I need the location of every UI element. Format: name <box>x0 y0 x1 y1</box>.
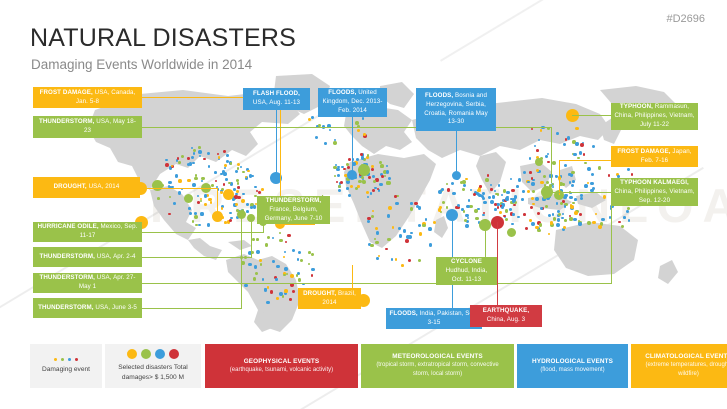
event-dot <box>191 156 194 159</box>
connector-frost-japan <box>559 160 560 195</box>
event-dot <box>497 206 499 208</box>
event-dot <box>311 268 314 271</box>
callout-thunderstorm-usa-june[interactable]: THUNDERSTORM, USA, June 3-5 <box>33 298 142 318</box>
event-dot <box>208 198 211 201</box>
selected-disaster-bubble <box>184 194 193 203</box>
event-dot <box>598 225 602 229</box>
event-dot <box>357 185 360 188</box>
event-dot <box>552 213 554 215</box>
event-dot <box>631 173 633 175</box>
event-dot <box>479 185 481 187</box>
callout-hurricane-odile[interactable]: HURRICANE ODILE, Mexico, Sep. 11-17 <box>33 222 142 242</box>
callout-flash-flood-usa[interactable]: FLASH FLOOD, USA, Aug. 11-13 <box>243 88 310 110</box>
event-dot <box>573 153 576 156</box>
event-dot <box>579 151 583 155</box>
callout-category: CYCLONE <box>451 258 482 265</box>
dot-blue-icon <box>68 358 71 361</box>
event-dot <box>465 224 469 228</box>
event-dot <box>535 197 539 201</box>
event-dot <box>387 214 390 217</box>
event-dot <box>466 205 470 209</box>
event-dot <box>279 232 281 234</box>
event-dot <box>587 167 591 171</box>
connector-thunderstorm-june <box>142 308 242 309</box>
event-dot <box>207 223 211 227</box>
callout-category: HURRICANE ODILE, <box>38 223 99 230</box>
event-dot <box>370 192 372 194</box>
event-dot <box>201 177 204 180</box>
event-dot <box>552 186 554 188</box>
event-dot <box>584 184 588 188</box>
event-dot <box>276 265 279 268</box>
event-dot <box>527 181 530 184</box>
event-dot <box>601 218 604 221</box>
callout-detail: USA, June 3-5 <box>95 304 137 311</box>
event-dot <box>451 182 454 185</box>
event-dot <box>168 181 172 185</box>
callout-floods-balkans[interactable]: FLOODS, Bosnia and Herzegovina, Serbia, … <box>416 88 496 131</box>
event-dot <box>262 278 264 280</box>
event-dot <box>627 168 630 171</box>
event-dot <box>401 264 404 267</box>
legend-category-subtitle: (flood, mass movement) <box>534 366 610 375</box>
event-dot <box>290 274 294 278</box>
event-dot <box>403 229 407 233</box>
callout-category: FLASH FLOOD, <box>253 90 300 97</box>
dot-red-icon <box>75 358 78 361</box>
dot-green-icon <box>61 358 64 361</box>
callout-thunderstorm-usa-apr-2-4[interactable]: THUNDERSTORM, USA, Apr. 2-4 <box>33 247 142 267</box>
legend-category-title: METEOROLOGICAL EVENTS <box>392 353 482 360</box>
event-dot <box>177 157 179 159</box>
event-dot <box>552 183 554 185</box>
dot-green-icon <box>141 349 151 359</box>
event-dot <box>259 259 262 262</box>
event-dot <box>380 165 384 169</box>
event-dot <box>198 146 201 149</box>
event-dot <box>405 239 409 243</box>
event-dot <box>460 181 463 184</box>
legend-category-title: GEOPHYSICAL EVENTS <box>244 358 320 365</box>
connector-typhoon-kalmaegi <box>547 192 611 193</box>
event-dot <box>579 213 582 216</box>
legend-category-meteorological[interactable]: METEOROLOGICAL EVENTS (tropical storm, e… <box>361 344 514 388</box>
event-dot <box>560 202 563 205</box>
event-dot <box>207 152 210 155</box>
event-dot <box>578 222 581 225</box>
event-dot <box>474 209 478 213</box>
callout-category: THUNDERSTORM, <box>39 274 95 281</box>
connector-cyclone-hudhud <box>485 225 486 258</box>
callout-thunderstorm-usa-apr-27[interactable]: THUNDERSTORM, USA, Apr. 27-May 1 <box>33 273 142 293</box>
event-dot <box>564 164 567 167</box>
event-dot <box>391 258 393 260</box>
legend-category-subtitle: (extreme temperatures, drought, wildfire… <box>631 361 727 378</box>
dot-orange-icon <box>54 358 57 361</box>
legend-category-subtitle: (tropical storm, extratropical storm, co… <box>361 361 514 378</box>
dot-orange-icon <box>127 349 137 359</box>
event-dot <box>284 267 288 271</box>
event-dot <box>512 199 515 202</box>
event-dot <box>540 207 543 210</box>
legend-damaging-event: Damaging event <box>30 344 102 388</box>
event-dot <box>256 250 260 254</box>
event-dot <box>558 213 561 216</box>
event-dot <box>556 202 558 204</box>
event-dot <box>241 199 245 203</box>
callout-detail: Hudhud, India, Oct. 11-13 <box>446 267 488 283</box>
event-dot <box>232 198 235 201</box>
event-dot <box>410 202 412 204</box>
legend-selected-disasters-label: Selected disasters Total damages> $ 1,50… <box>105 363 201 382</box>
event-dot <box>540 181 543 184</box>
event-dot <box>518 178 521 181</box>
connector-hurricane-odile <box>142 232 264 233</box>
callout-category: DROUGHT, <box>303 290 336 297</box>
event-dot <box>362 180 364 182</box>
event-dot <box>428 227 432 231</box>
event-dot <box>370 244 374 248</box>
event-dot <box>536 169 539 172</box>
event-dot <box>193 149 196 152</box>
legend-category-climatological[interactable]: CLIMATOLOGICAL EVENTS (extreme temperatu… <box>631 344 727 388</box>
event-dot <box>418 206 421 209</box>
event-dot <box>237 167 240 170</box>
event-dot <box>529 171 532 174</box>
event-dot <box>598 166 602 170</box>
callout-detail: France, Belgium, Germany, June 7-10 <box>265 206 323 222</box>
legend-category-subtitle: (earthquake, tsunami, volcanic activity) <box>222 366 341 375</box>
event-dot <box>379 183 382 186</box>
callout-typhoon-kalmaegi[interactable]: TYPHOON KALMAEGI, China, Philippines, Vi… <box>611 178 698 206</box>
event-dot <box>538 230 540 232</box>
callout-frost-damage-usa-canada[interactable]: FROST DAMAGE, USA, Canada, Jan. 5-8 <box>33 87 142 108</box>
event-dot <box>192 183 196 187</box>
event-dot <box>623 216 626 219</box>
event-dot <box>569 217 572 220</box>
callout-category: FROST DAMAGE, <box>617 148 670 155</box>
callout-frost-damage-japan[interactable]: FROST DAMAGE, Japan, Feb. 7-16 <box>611 146 698 167</box>
event-dot <box>398 227 401 230</box>
callout-category: DROUGHT, <box>54 183 87 190</box>
event-dot <box>573 218 577 222</box>
dot-blue-icon <box>155 349 165 359</box>
event-dot <box>501 203 503 205</box>
event-dot <box>553 217 556 220</box>
callout-detail: USA, Apr. 2-4 <box>97 253 136 260</box>
event-dot <box>374 187 377 190</box>
event-dot <box>433 221 436 224</box>
event-dot <box>284 289 288 293</box>
event-dot <box>505 209 508 212</box>
callout-detail: China, Aug. 3 <box>487 316 525 323</box>
event-dot <box>475 217 479 221</box>
event-dot <box>338 189 341 192</box>
event-dot <box>626 210 629 213</box>
event-dot <box>367 220 370 223</box>
dot-red-icon <box>169 349 179 359</box>
event-dot <box>517 216 520 219</box>
event-dot <box>513 204 516 207</box>
event-dot <box>234 195 237 198</box>
event-dot <box>490 188 492 190</box>
callout-category: THUNDERSTORM, <box>39 253 95 260</box>
event-dot <box>569 181 572 184</box>
connector-drought-usa <box>217 188 218 216</box>
event-dot <box>564 219 567 222</box>
event-dot <box>289 298 292 301</box>
legend-category-title: CLIMATOLOGICAL EVENTS <box>645 353 727 360</box>
callout-typhoon-rammasun[interactable]: TYPHOON, Rammasun, China, Philippines, V… <box>611 103 698 130</box>
event-dot <box>198 150 202 154</box>
event-dot <box>483 201 486 204</box>
connector-flash-flood <box>276 110 277 178</box>
event-dot <box>490 200 494 204</box>
event-dot <box>224 221 227 224</box>
connector-drought-usa <box>140 188 218 189</box>
event-dot <box>531 182 534 185</box>
event-dot <box>253 205 256 208</box>
event-dot <box>298 278 302 282</box>
event-dot <box>556 132 559 135</box>
event-dot <box>215 180 217 182</box>
connector-thunderstorm-apr27 <box>142 283 612 284</box>
event-dot <box>422 224 425 227</box>
connector-thunderstorm-june <box>241 214 242 309</box>
event-dot <box>564 205 566 207</box>
selected-disaster-bubble <box>507 228 516 237</box>
callout-category: TYPHOON, <box>620 103 653 110</box>
event-dot <box>181 155 184 158</box>
event-dot <box>575 127 578 130</box>
callout-drought-usa[interactable]: DROUGHT, USA, 2014 <box>33 177 140 198</box>
event-dot <box>618 221 621 224</box>
event-dot <box>399 234 402 237</box>
slide-canvas: PRESENTATIONLOAD NATURAL DISASTERS Damag… <box>0 0 727 409</box>
event-dot <box>192 162 195 165</box>
callout-category: FROST DAMAGE, <box>40 89 93 96</box>
legend-category-geophysical[interactable]: GEOPHYSICAL EVENTS (earthquake, tsunami,… <box>205 344 358 388</box>
connector-earthquake-china <box>497 222 498 312</box>
event-dot <box>563 143 566 146</box>
event-dot <box>246 203 249 206</box>
event-dot <box>300 259 303 262</box>
callout-thunderstorm-usa-may[interactable]: THUNDERSTORM, USA, May 18-23 <box>33 116 142 138</box>
event-dot <box>188 207 190 209</box>
event-dot <box>575 142 578 145</box>
legend: Damaging event Selected disasters Total … <box>30 344 698 388</box>
selected-disaster-bubble <box>223 189 234 200</box>
event-dot <box>194 177 198 181</box>
event-dot <box>478 194 482 198</box>
event-dot <box>362 117 364 119</box>
event-dot <box>485 178 489 182</box>
event-dot <box>194 215 198 219</box>
callout-detail: China, Philippines, Vietnam, Sep. 12-20 <box>614 188 694 204</box>
legend-category-hydrological[interactable]: HYDROLOGICAL EVENTS (flood, mass movemen… <box>517 344 628 388</box>
connector-thunderstorm-apr27 <box>611 206 612 284</box>
event-dot <box>178 179 182 183</box>
callout-drought-brazil[interactable]: DROUGHT, Brazil, 2014 <box>298 288 361 309</box>
callout-category: EARTHQUAKE, <box>483 307 529 314</box>
event-dot <box>587 221 591 225</box>
event-dot <box>498 184 500 186</box>
event-dot <box>381 175 384 178</box>
connector-frost-usa <box>280 224 315 225</box>
page-title: NATURAL DISASTERS <box>30 24 296 53</box>
event-dot <box>505 218 508 221</box>
event-dot <box>492 195 495 198</box>
event-dot <box>265 243 268 246</box>
event-dot <box>414 202 417 205</box>
event-dot <box>587 182 589 184</box>
event-dot <box>366 191 369 194</box>
event-dot <box>388 206 392 210</box>
event-dot <box>375 241 378 244</box>
connector-typhoon-rammasun <box>572 115 611 116</box>
connector-thunderstorm-apr2 <box>251 218 252 258</box>
event-dot <box>279 239 282 242</box>
event-dot <box>296 274 298 276</box>
event-dot <box>531 222 535 226</box>
event-dot <box>419 232 422 235</box>
event-dot <box>394 195 397 198</box>
legend-big-dots <box>127 349 179 359</box>
event-dot <box>311 274 314 277</box>
callout-category: THUNDERSTORM, <box>39 118 95 125</box>
callout-floods-uk[interactable]: FLOODS, United Kingdom, Dec. 2013-Feb. 2… <box>318 88 387 117</box>
event-dot <box>169 196 171 198</box>
event-dot <box>211 184 214 187</box>
event-dot <box>577 157 580 160</box>
event-dot <box>371 215 375 219</box>
event-dot <box>275 278 277 280</box>
event-dot <box>260 263 263 266</box>
callout-detail: USA, Aug. 11-13 <box>253 99 300 106</box>
event-dot <box>385 248 387 250</box>
event-dot <box>438 208 442 212</box>
connector-thunderstorm-apr2 <box>142 257 252 258</box>
event-dot <box>463 184 466 187</box>
event-dot <box>187 179 190 182</box>
event-dot <box>527 190 530 193</box>
event-dot <box>223 150 226 153</box>
event-dot <box>463 210 466 213</box>
event-dot <box>505 197 509 201</box>
callout-category: THUNDERSTORM, <box>38 304 94 311</box>
event-dot <box>512 213 515 216</box>
event-dot <box>261 188 264 191</box>
selected-disaster-bubble <box>535 158 543 166</box>
event-dot <box>246 210 249 213</box>
event-dot <box>482 214 485 217</box>
event-dot <box>208 165 210 167</box>
event-dot <box>571 171 575 175</box>
connector-thunderstorm-may <box>551 127 552 183</box>
event-dot <box>580 194 582 196</box>
event-dot <box>204 203 207 206</box>
event-dot <box>324 142 327 145</box>
selected-disaster-bubble <box>358 164 370 176</box>
event-dot <box>521 198 524 201</box>
event-dot <box>546 181 549 184</box>
event-dot <box>237 163 240 166</box>
event-dot <box>376 231 379 234</box>
event-dot <box>336 168 339 171</box>
callout-cyclone-hudhud[interactable]: CYCLONE Hudhud, India, Oct. 11-13 <box>436 257 497 285</box>
callout-category: FLOODS, <box>328 89 356 96</box>
event-dot <box>516 185 519 188</box>
legend-small-dots <box>54 358 78 361</box>
event-dot <box>311 253 314 256</box>
event-dot <box>347 166 350 169</box>
legend-category-title: HYDROLOGICAL EVENTS <box>532 358 613 365</box>
event-dot <box>194 212 197 215</box>
event-dot <box>346 187 349 190</box>
event-dot <box>311 116 314 119</box>
event-dot <box>536 149 539 152</box>
connector-floods-uk <box>352 117 353 175</box>
event-dot <box>572 180 575 183</box>
event-dot <box>178 161 181 164</box>
event-dot <box>272 260 275 263</box>
event-dot <box>603 195 606 198</box>
event-dot <box>200 212 203 215</box>
event-dot <box>197 201 200 204</box>
callout-earthquake-china[interactable]: EARTHQUAKE, China, Aug. 3 <box>470 305 542 327</box>
event-dot <box>552 161 556 165</box>
event-dot <box>255 272 258 275</box>
event-dot <box>482 192 485 195</box>
decorative-streak <box>440 0 724 61</box>
event-dot <box>410 232 412 234</box>
event-dot <box>556 223 560 227</box>
connector-frost-japan <box>560 160 612 161</box>
connector-floods-balkans <box>456 131 457 175</box>
event-dot <box>395 202 398 205</box>
callout-category: TYPHOON KALMAEGI, <box>620 179 689 186</box>
callout-floods-india-pakistan[interactable]: FLOODS, India, Pakistan, Sep. 3-15 <box>386 308 482 329</box>
callout-category: FLOODS, <box>425 92 453 99</box>
callout-detail: USA, 2014 <box>89 183 120 190</box>
event-dot <box>574 211 578 215</box>
event-dot <box>242 193 245 196</box>
event-dot <box>574 198 577 201</box>
callout-thunderstorm-europe[interactable]: THUNDERSTORM, France, Belgium, Germany, … <box>257 196 330 224</box>
event-dot <box>256 238 259 241</box>
callout-category: FLOODS, <box>390 310 418 317</box>
event-dot <box>438 190 442 194</box>
document-id: #D2696 <box>666 13 705 25</box>
event-dot <box>287 234 291 238</box>
event-dot <box>522 190 525 193</box>
legend-damaging-event-label: Damaging event <box>42 365 90 375</box>
event-dot <box>429 243 432 246</box>
legend-selected-disasters: Selected disasters Total damages> $ 1,50… <box>105 344 201 388</box>
event-dot <box>388 177 391 180</box>
callout-category: THUNDERSTORM, <box>266 197 322 204</box>
event-dot <box>455 206 458 209</box>
event-dot <box>249 174 252 177</box>
